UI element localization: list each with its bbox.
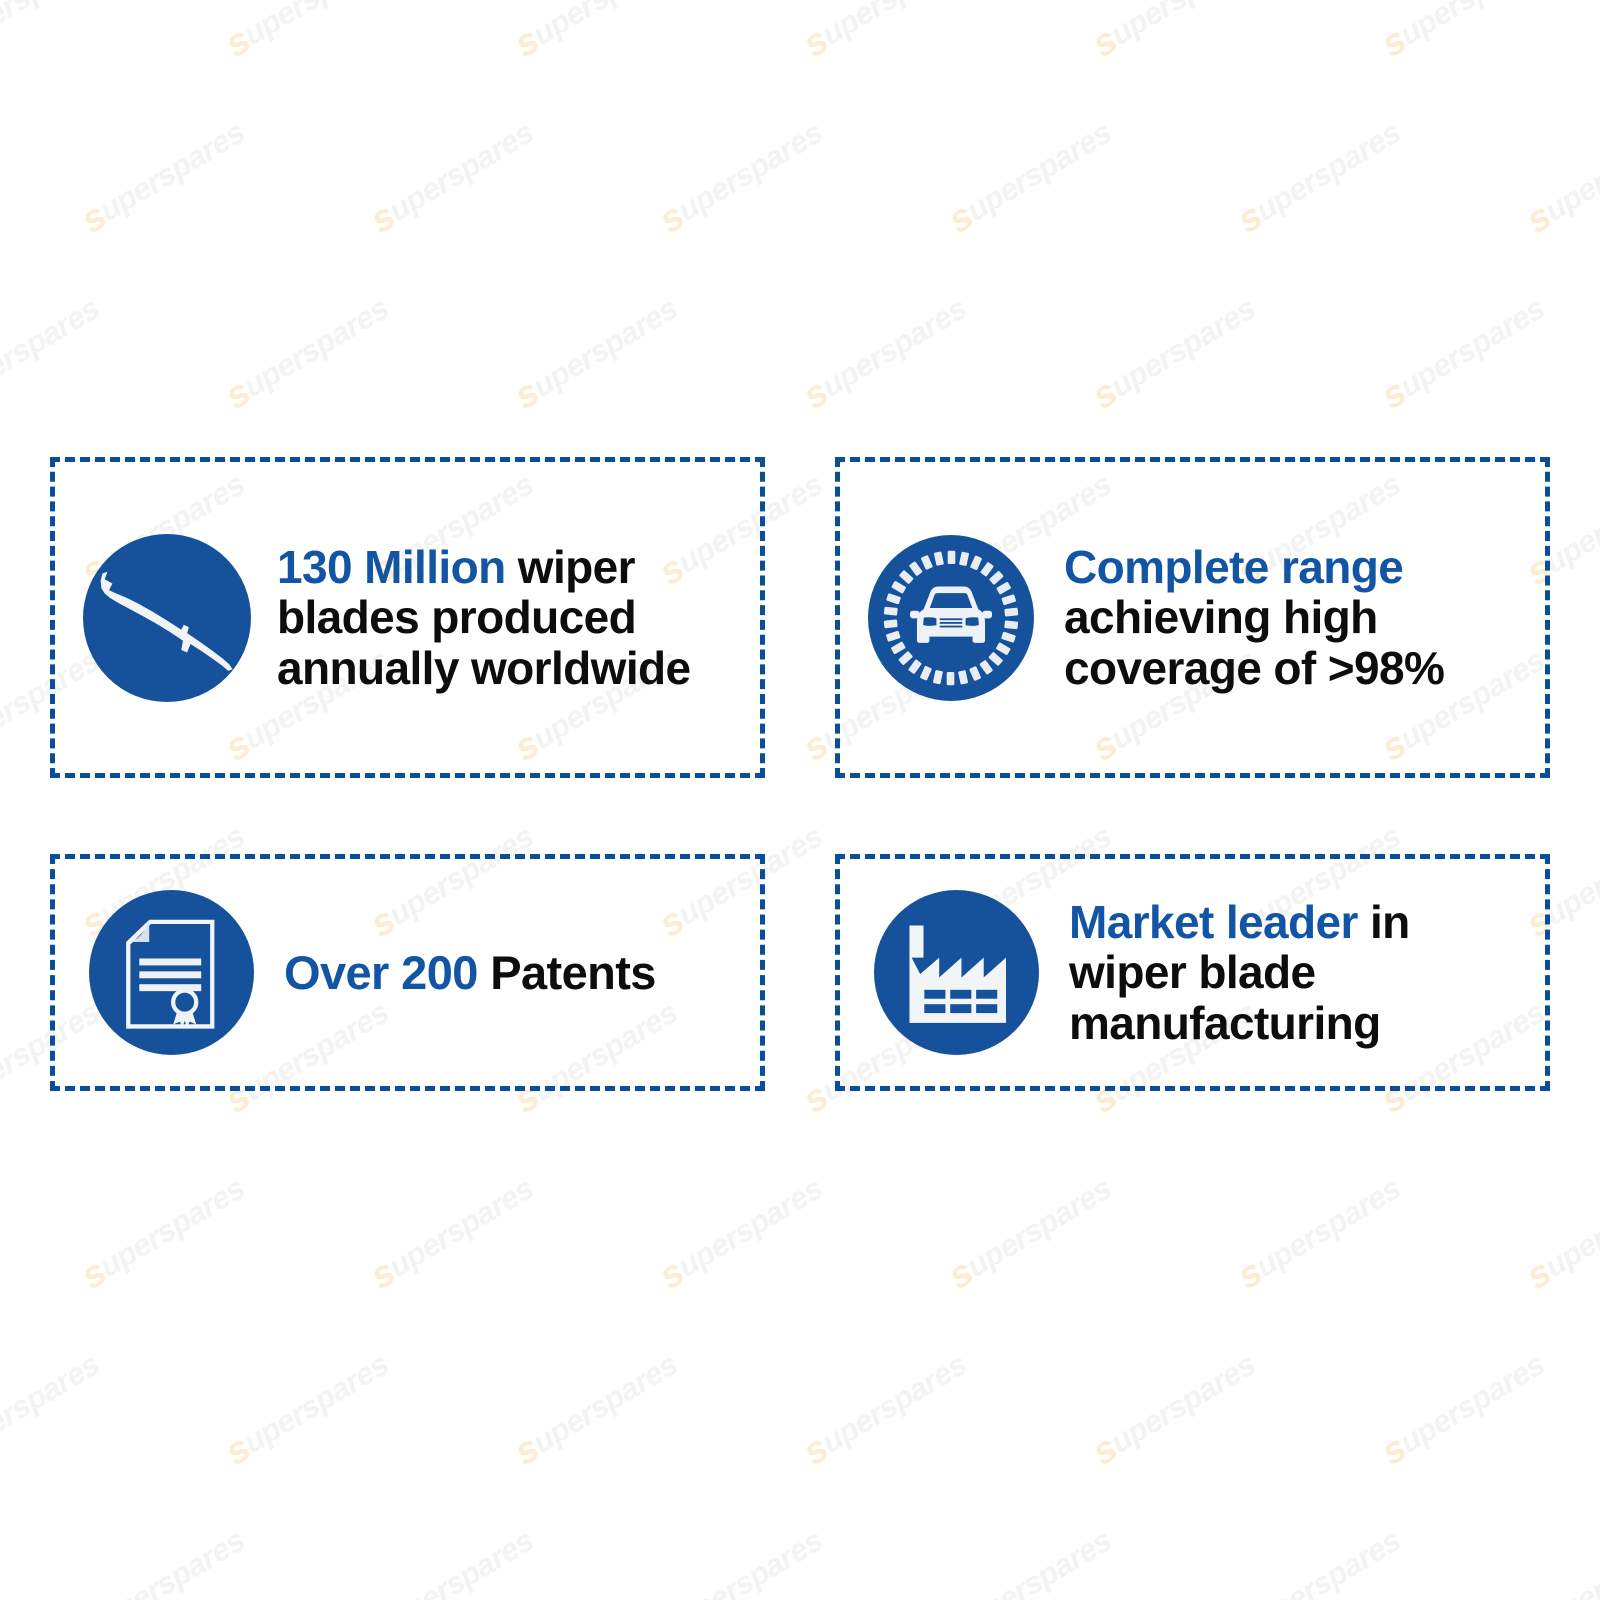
watermark-text: superspares bbox=[509, 1346, 684, 1471]
watermark-text: superspares bbox=[1087, 290, 1262, 415]
panel-production-text: 130 Million wiper blades produced annual… bbox=[251, 542, 750, 694]
car-tire-icon bbox=[868, 535, 1034, 701]
watermark-text: superspares bbox=[509, 0, 684, 63]
watermark-text: superspares bbox=[1087, 1346, 1262, 1471]
panel-grid: 130 Million wiper blades produced annual… bbox=[50, 457, 1550, 1091]
watermark-text: superspares bbox=[798, 0, 973, 63]
panel-market-text: Market leader in wiper blade manufacturi… bbox=[1039, 897, 1535, 1049]
panel-production-highlight: 130 Million bbox=[277, 541, 506, 593]
watermark-text: superspares bbox=[942, 1522, 1117, 1600]
watermark-text: superspares bbox=[75, 1522, 250, 1600]
panel-coverage: Complete range achieving high coverage o… bbox=[835, 457, 1550, 778]
watermark-text: superspares bbox=[220, 290, 395, 415]
panel-patents-text: Over 200 Patents bbox=[254, 947, 750, 999]
watermark-text: superspares bbox=[220, 1346, 395, 1471]
watermark-text: superspares bbox=[1376, 0, 1551, 63]
watermark-text: superspares bbox=[364, 1170, 539, 1295]
panel-market-highlight: Market leader bbox=[1069, 896, 1358, 948]
watermark-text: superspares bbox=[75, 1170, 250, 1295]
panel-patents-body: Patents bbox=[478, 946, 656, 999]
watermark-text: superspares bbox=[1376, 1346, 1551, 1471]
panel-production: 130 Million wiper blades produced annual… bbox=[50, 457, 765, 778]
watermark-text: superspares bbox=[364, 1522, 539, 1600]
watermark-text: superspares bbox=[942, 1170, 1117, 1295]
watermark-text: superspares bbox=[798, 1346, 973, 1471]
watermark-text: superspares bbox=[1231, 1170, 1406, 1295]
watermark-text: superspares bbox=[0, 1346, 106, 1471]
watermark-text: superspares bbox=[0, 0, 106, 63]
watermark-text: superspares bbox=[1520, 1170, 1600, 1295]
infographic-canvas: supersparessupersparessupersparessupersp… bbox=[0, 0, 1600, 1600]
patent-certificate-icon bbox=[89, 890, 254, 1055]
watermark-text: superspares bbox=[942, 114, 1117, 239]
panel-market: Market leader in wiper blade manufacturi… bbox=[835, 854, 1550, 1091]
panel-coverage-text: Complete range achieving high coverage o… bbox=[1034, 542, 1535, 694]
wiper-blade-icon bbox=[83, 534, 251, 702]
watermark-text: superspares bbox=[1087, 0, 1262, 63]
watermark-text: superspares bbox=[220, 0, 395, 63]
watermark-text: superspares bbox=[509, 290, 684, 415]
watermark-text: superspares bbox=[1376, 290, 1551, 415]
factory-icon bbox=[874, 890, 1039, 1055]
watermark-text: superspares bbox=[653, 1522, 828, 1600]
watermark-text: superspares bbox=[653, 1170, 828, 1295]
watermark-text: superspares bbox=[1231, 114, 1406, 239]
watermark-text: superspares bbox=[75, 114, 250, 239]
panel-patents-highlight: Over 200 bbox=[284, 946, 478, 999]
watermark-text: superspares bbox=[1520, 1522, 1600, 1600]
panel-coverage-highlight: Complete range bbox=[1064, 541, 1403, 593]
watermark-text: superspares bbox=[798, 290, 973, 415]
watermark-text: superspares bbox=[364, 114, 539, 239]
watermark-text: superspares bbox=[1520, 114, 1600, 239]
watermark-text: superspares bbox=[1231, 1522, 1406, 1600]
watermark-text: superspares bbox=[0, 290, 106, 415]
panel-coverage-body: achieving high coverage of >98% bbox=[1064, 591, 1444, 694]
panel-patents: Over 200 Patents bbox=[50, 854, 765, 1091]
watermark-text: superspares bbox=[653, 114, 828, 239]
